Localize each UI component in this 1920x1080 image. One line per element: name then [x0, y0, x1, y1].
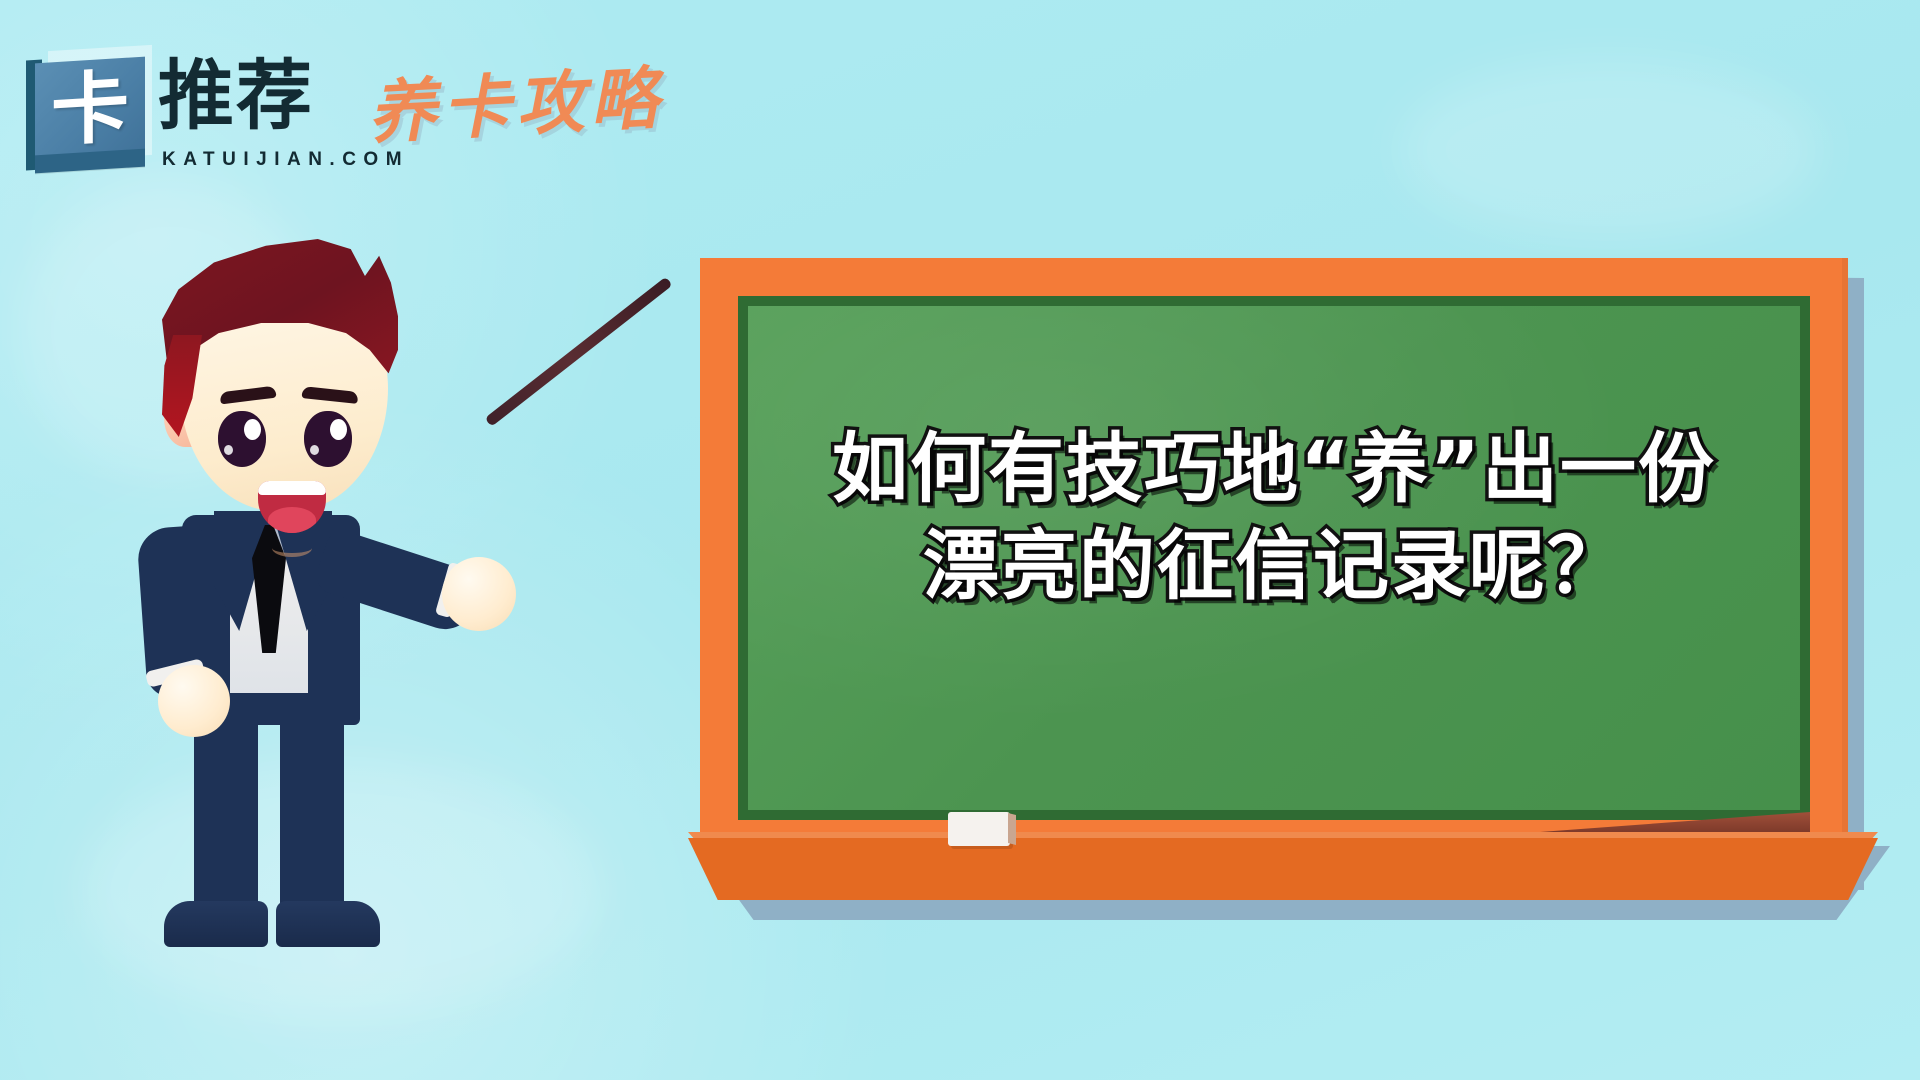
figure-eye-highlight-right	[330, 419, 347, 440]
figure-shoe-left	[164, 901, 268, 947]
background-blob-3	[1400, 60, 1820, 240]
figure-head	[162, 239, 398, 519]
slide-canvas: 卡 推荐 KATUIJIAN.COM 养卡攻略 如何有技巧地“养”出一份 漂亮的…	[0, 0, 1920, 1080]
blackboard-ledge	[688, 838, 1878, 900]
figure-hand-left	[158, 665, 230, 737]
logo-ka-glyph: 卡	[35, 51, 145, 170]
brand-logo[interactable]: 卡 推荐 KATUIJIAN.COM 养卡攻略	[18, 42, 698, 177]
chalk-eraser-icon[interactable]	[948, 812, 1010, 846]
figure-hand-right	[442, 557, 516, 631]
cartoon-teacher-figure	[90, 195, 670, 985]
figure-eye-right	[304, 411, 352, 467]
logo-slogan-text: 养卡攻略	[366, 64, 665, 147]
blackboard-headline-line-1: 如何有技巧地“养”出一份	[748, 420, 1800, 517]
figure-upper-teeth	[258, 481, 326, 495]
figure-eye-highlight-left	[244, 419, 261, 440]
blackboard-headline-line-2: 漂亮的征信记录呢？	[748, 517, 1800, 614]
figure-eye-left	[218, 411, 266, 467]
blackboard-headline: 如何有技巧地“养”出一份 漂亮的征信记录呢？	[748, 420, 1800, 615]
figure-shoe-right	[276, 901, 380, 947]
logo-brand-name: 推荐	[158, 58, 314, 134]
pointer-stick-held-icon	[485, 277, 673, 427]
figure-eye-glint-left	[224, 445, 233, 455]
logo-card-icon: 卡	[26, 48, 150, 176]
figure-tongue	[268, 507, 316, 533]
figure-eye-glint-right	[310, 445, 319, 455]
figure-chin-crease	[272, 539, 312, 557]
